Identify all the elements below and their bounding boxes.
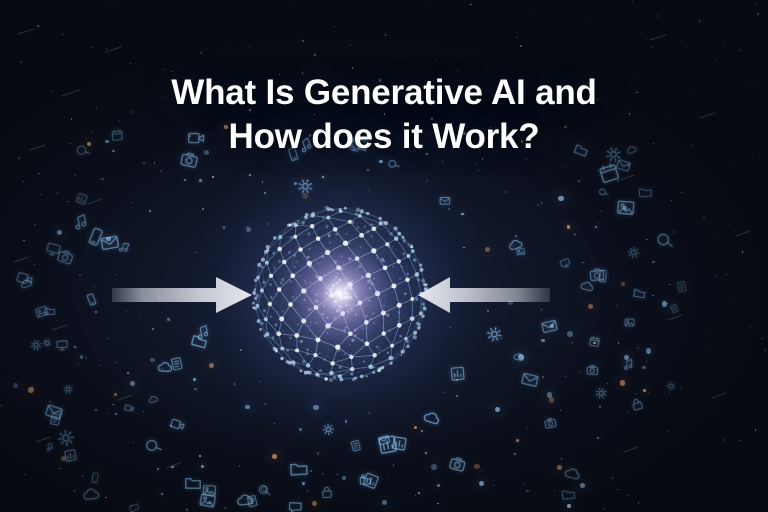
camera-icon [542, 415, 557, 430]
camera-icon [55, 246, 76, 267]
bokeh-mote [194, 388, 196, 390]
bokeh-mote [114, 393, 117, 396]
document-icon [169, 355, 185, 371]
cloud-icon [147, 392, 160, 405]
camera-icon [585, 363, 598, 376]
bokeh-mote [571, 342, 573, 344]
bokeh-mote [379, 160, 383, 164]
bokeh-mote [643, 389, 646, 392]
bokeh-mote [184, 179, 187, 182]
folder-icon [184, 474, 202, 492]
bokeh-mote [593, 342, 595, 344]
bokeh-mote [623, 206, 627, 210]
bokeh-mote [541, 339, 545, 343]
image-icon [623, 317, 634, 328]
monitor-icon [558, 256, 572, 270]
bokeh-mote [272, 454, 277, 459]
phone-icon [88, 472, 102, 486]
chart-icon [391, 434, 408, 451]
chat-icon [127, 502, 141, 512]
folder-icon [189, 331, 210, 352]
bokeh-mote [558, 196, 563, 201]
bokeh-mote [322, 473, 324, 475]
bokeh-mote [201, 465, 204, 468]
bokeh-mote [74, 346, 76, 348]
bokeh-mote [312, 501, 317, 506]
bokeh-mote [485, 247, 490, 252]
bokeh-mote [463, 247, 465, 249]
bokeh-mote [382, 500, 388, 506]
lock-icon [628, 395, 646, 413]
bokeh-mote [646, 348, 652, 354]
bokeh-mote [567, 331, 573, 337]
bokeh-mote [150, 358, 155, 363]
cloud-icon [235, 490, 255, 510]
bokeh-mote [580, 483, 585, 488]
bokeh-mote [342, 476, 347, 481]
search-icon [596, 186, 610, 200]
bokeh-mote [621, 282, 626, 287]
bokeh-mote [209, 363, 214, 368]
cloud-icon [562, 463, 583, 484]
music-icon [621, 357, 635, 371]
bokeh-mote [567, 225, 571, 229]
bokeh-mote [57, 230, 63, 236]
bokeh-mote [474, 464, 480, 470]
music-icon [44, 441, 55, 452]
bokeh-mote [550, 324, 554, 328]
folder-icon [632, 286, 647, 301]
folder-icon [637, 184, 653, 200]
search-icon [141, 434, 164, 457]
bokeh-mote [516, 439, 519, 442]
cloud-icon [81, 484, 101, 504]
bokeh-mote [61, 456, 66, 461]
lock-icon [320, 485, 335, 500]
bokeh-mote [414, 426, 418, 430]
bokeh-mote [567, 504, 571, 508]
bokeh-mote [367, 169, 369, 171]
search-icon [256, 483, 272, 499]
bokeh-mote [106, 237, 111, 242]
phone-icon [83, 291, 100, 308]
video-icon [123, 402, 136, 415]
music-icon [116, 239, 132, 255]
chart-icon [74, 191, 89, 206]
bokeh-mote [431, 464, 437, 470]
gear-icon [485, 325, 505, 345]
bokeh-mote [637, 347, 640, 350]
bokeh-mote [495, 407, 500, 412]
bokeh-mote [101, 178, 104, 181]
folder-icon [560, 486, 576, 502]
bokeh-mote [662, 301, 668, 307]
bokeh-mote [28, 387, 34, 393]
gear-icon [56, 428, 76, 448]
bokeh-mote [317, 452, 320, 455]
bokeh-mote [437, 503, 439, 505]
gear-icon [665, 381, 677, 393]
page-title: What Is Generative AI and How does it Wo… [0, 71, 768, 159]
bokeh-mote [595, 226, 597, 228]
document-icon [675, 280, 689, 294]
chat-icon [288, 500, 303, 512]
bokeh-mote [620, 380, 626, 386]
hero-banner: What Is Generative AI and How does it Wo… [0, 0, 768, 512]
folder-icon [288, 458, 309, 479]
bokeh-mote [479, 481, 484, 486]
mail-icon [376, 432, 391, 447]
bokeh-mote [642, 366, 646, 370]
monitor-icon [55, 338, 68, 351]
gear-icon [322, 422, 336, 436]
mail-icon [519, 369, 540, 390]
bokeh-mote [588, 304, 593, 309]
bokeh-mote [518, 354, 524, 360]
bokeh-mote [299, 428, 302, 431]
gear-icon [593, 385, 609, 401]
bokeh-mote [652, 261, 655, 264]
page-title-line-1: What Is Generative AI and [0, 71, 768, 115]
bokeh-mote [361, 474, 366, 479]
bokeh-mote [310, 470, 312, 472]
bokeh-mote [80, 355, 84, 359]
document-icon [349, 439, 363, 453]
camera-icon [588, 266, 605, 283]
bokeh-mote [130, 381, 135, 386]
bokeh-mote [199, 179, 202, 182]
camera-icon [447, 454, 468, 475]
image-icon [202, 483, 217, 498]
bokeh-mote [193, 378, 196, 381]
bokeh-mote [437, 484, 440, 487]
bokeh-mote [557, 465, 562, 470]
bokeh-mote [526, 490, 529, 493]
image-icon [516, 247, 526, 257]
bokeh-mote [13, 383, 18, 388]
gear-icon [626, 245, 641, 260]
arrow-right-pointing [112, 277, 252, 313]
video-icon [168, 415, 187, 434]
bokeh-mote [549, 397, 555, 403]
search-icon [654, 230, 676, 252]
arrow-left-pointing [418, 277, 550, 313]
gear-icon [61, 382, 74, 395]
page-title-line-2: How does it Work? [0, 115, 768, 159]
bokeh-mote [302, 482, 305, 485]
bokeh-mote [60, 412, 63, 415]
document-icon [668, 303, 680, 315]
